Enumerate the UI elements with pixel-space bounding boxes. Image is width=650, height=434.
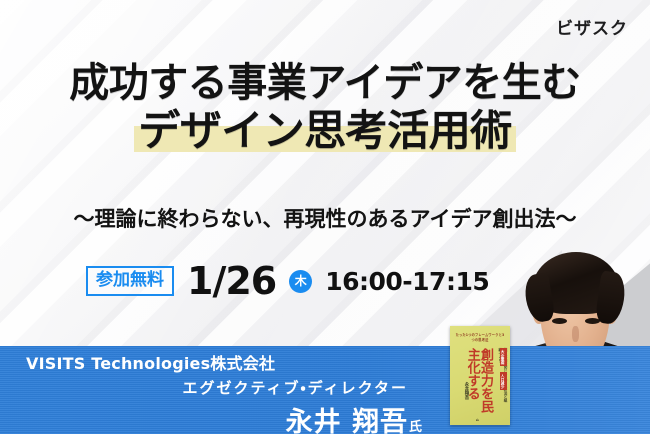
- book-cover: たった1つのフレームワークと3つの思考法 誰もが創造的になれる思考法と組織づくり…: [450, 326, 510, 425]
- speaker-name-suffix: 氏: [409, 420, 422, 434]
- title-line-2-row: デザイン思考活用術: [0, 110, 650, 152]
- book-author: 永井翔吾: [460, 382, 469, 416]
- title-line-1: 成功する事業アイデアを生む: [0, 62, 650, 104]
- speaker-name: 永井 翔吾: [286, 407, 408, 434]
- book-tagline: たった1つのフレームワークと3つの思考法: [455, 333, 505, 343]
- day-of-week-badge: 木: [289, 270, 312, 293]
- title-block: 成功する事業アイデアを生む デザイン思考活用術: [0, 62, 650, 152]
- book-title: 創造力を民主化する: [470, 348, 492, 420]
- speaker-role: エグゼクティブ・ディレクター: [22, 377, 422, 398]
- photo-eye-left: [552, 318, 567, 324]
- book-tag-bottom: 人口減少: [500, 372, 507, 390]
- book-tag-top: 大企業病: [500, 348, 507, 366]
- speaker-name-row: 永井 翔吾氏: [22, 400, 422, 434]
- speaker-info: VISITS Technologies株式会社 エグゼクティブ・ディレクター 永…: [22, 350, 422, 434]
- event-date: 1/26: [187, 262, 276, 300]
- free-admission-badge: 参加無料: [86, 266, 174, 296]
- event-date-row: 参加無料 1/26 木 16:00-17:15: [86, 262, 489, 300]
- seminar-banner: ビザスク 成功する事業アイデアを生む デザイン思考活用術 〜理論に終わらない、再…: [0, 0, 650, 434]
- title-line-2-highlighted: デザイン思考活用術: [134, 110, 516, 152]
- book-publisher-mark: ⌂: [476, 417, 479, 422]
- photo-hair-side-right: [595, 270, 628, 325]
- brand-logo: ビザスク: [556, 14, 628, 39]
- speaker-company: VISITS Technologies株式会社: [22, 350, 422, 374]
- subtitle: 〜理論に終わらない、再現性のあるアイデア創出法〜: [0, 203, 650, 233]
- event-time: 16:00-17:15: [325, 269, 489, 294]
- photo-nose: [572, 326, 579, 342]
